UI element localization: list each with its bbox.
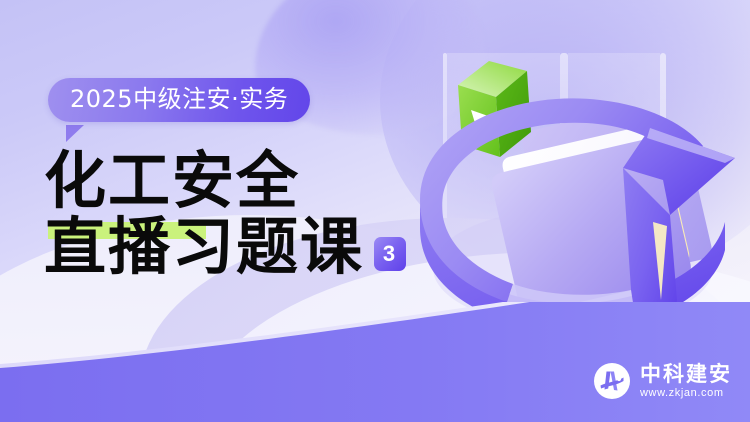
logo-website-url: www.zkjan.com bbox=[640, 388, 732, 399]
logo-company-name: 中科建安 bbox=[640, 364, 732, 385]
episode-number-badge: 3 bbox=[374, 237, 406, 271]
course-category-badge: 2025中级注安·实务 bbox=[48, 78, 310, 122]
title-line-1: 化工安全 bbox=[44, 144, 300, 217]
title-line-1-wrapper: 化工安全 bbox=[44, 148, 406, 214]
title-line-2-wrapper: 直播习题课 3 bbox=[44, 214, 406, 280]
badge-pill-tail bbox=[66, 125, 84, 142]
course-banner: 2025中级注安·实务 化工安全 直播习题课 3 中科建安 www.zkjan.… bbox=[0, 0, 750, 422]
zhongke-circle-logo-icon bbox=[593, 362, 631, 400]
title-block: 化工安全 直播习题课 3 bbox=[44, 148, 406, 280]
brand-logo: 中科建安 www.zkjan.com bbox=[593, 362, 732, 400]
logo-text-block: 中科建安 www.zkjan.com bbox=[640, 364, 732, 399]
title-line-2: 直播习题课 bbox=[44, 214, 364, 280]
